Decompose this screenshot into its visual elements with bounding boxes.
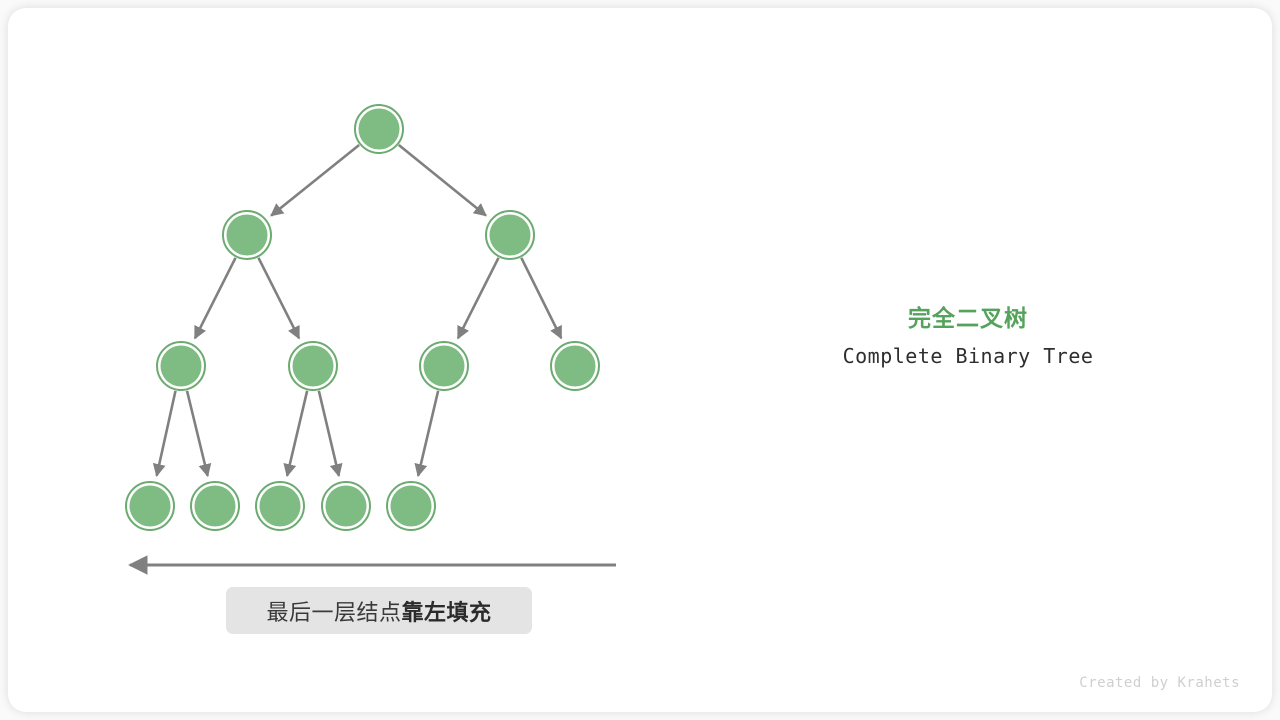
tree-node	[223, 211, 271, 259]
tree-node-fill	[490, 215, 531, 256]
screenshot-stage: 完全二叉树 Complete Binary Tree 最后一层结点靠左填充 Cr…	[0, 0, 1280, 720]
tree-node-fill	[195, 486, 236, 527]
tree-edge	[271, 145, 359, 216]
tree-node-fill	[391, 486, 432, 527]
tree-node-fill	[130, 486, 171, 527]
tree-node	[486, 211, 534, 259]
page-title: 完全二叉树	[768, 299, 1168, 333]
tree-edge	[418, 391, 438, 476]
tree-node	[256, 482, 304, 530]
caption-emphasis: 靠左填充	[402, 600, 492, 625]
tree-node-fill	[555, 346, 596, 387]
tree-edge	[521, 258, 561, 338]
tree-edge-layer	[157, 145, 562, 476]
tree-edge	[399, 145, 486, 215]
tree-node-fill	[227, 215, 268, 256]
page-subtitle: Complete Binary Tree	[768, 344, 1168, 368]
tree-edge	[195, 258, 236, 339]
tree-node	[355, 105, 403, 153]
tree-edge	[287, 391, 307, 476]
tree-node-layer	[126, 105, 599, 530]
tree-node	[157, 342, 205, 390]
tree-node	[551, 342, 599, 390]
tree-node	[322, 482, 370, 530]
watermark: Created by Krahets	[900, 675, 1240, 691]
caption-text: 最后一层结点靠左填充	[266, 595, 491, 627]
caption-prefix: 最后一层结点	[266, 600, 401, 625]
tree-node	[126, 482, 174, 530]
tree-node-fill	[293, 346, 334, 387]
tree-node-fill	[359, 109, 400, 150]
tree-node	[289, 342, 337, 390]
tree-node-fill	[260, 486, 301, 527]
tree-node-fill	[326, 486, 367, 527]
tree-node-fill	[424, 346, 465, 387]
tree-node-fill	[161, 346, 202, 387]
tree-node	[191, 482, 239, 530]
tree-edge	[258, 258, 299, 339]
tree-edge	[157, 391, 176, 476]
tree-edge	[187, 391, 208, 476]
tree-edge	[458, 258, 499, 339]
caption-badge: 最后一层结点靠左填充	[226, 587, 532, 634]
tree-node	[420, 342, 468, 390]
tree-edge	[319, 391, 339, 476]
tree-node	[387, 482, 435, 530]
